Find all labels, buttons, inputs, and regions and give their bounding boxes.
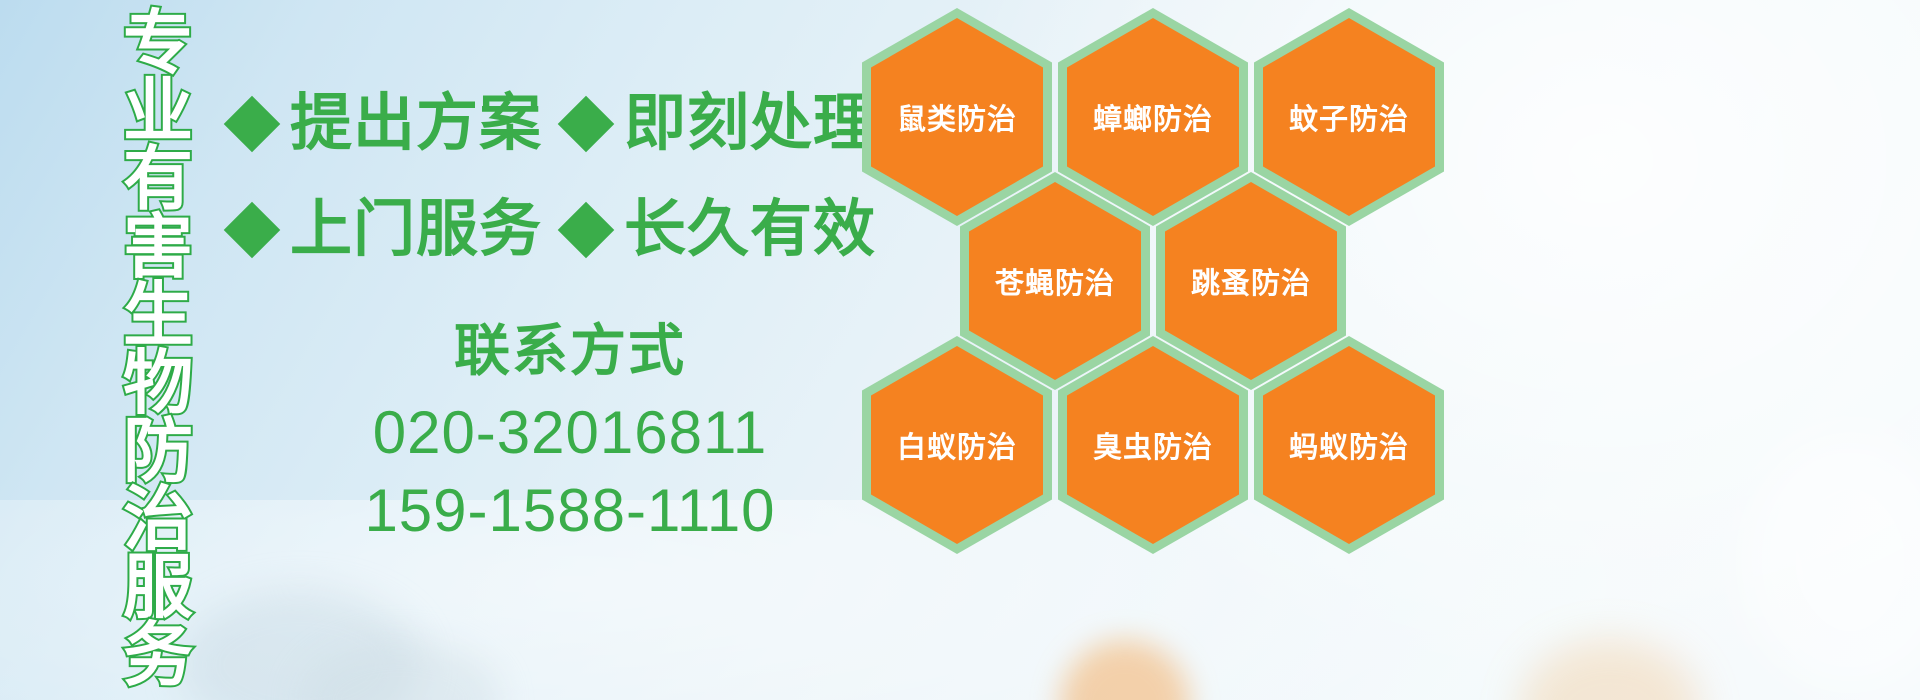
background-blur-blob	[1740, 430, 1920, 690]
feature-row-one: 提出方案 即刻处理	[232, 88, 876, 160]
hexagon-inner: 蚊子防治	[1263, 18, 1435, 216]
service-label: 臭虫防治	[1093, 424, 1213, 466]
feature-label: 提出方案	[290, 88, 542, 160]
service-label: 蟑螂防治	[1093, 96, 1213, 138]
phone-number-landline[interactable]: 020-32016811	[300, 394, 840, 472]
feature-label: 即刻处理	[624, 88, 876, 160]
phone-number-mobile[interactable]: 159-1588-1110	[300, 472, 840, 550]
feature-label: 长久有效	[624, 194, 876, 266]
headline-char: 生	[123, 280, 193, 348]
feature-item: 即刻处理	[566, 88, 876, 160]
headline-char: 专	[123, 8, 193, 76]
service-label: 跳蚤防治	[1191, 260, 1311, 302]
feature-row-two: 上门服务 长久有效	[232, 194, 876, 266]
contact-block: 联系方式 020-32016811 159-1588-1110	[300, 318, 840, 550]
diamond-bullet-icon	[558, 96, 615, 153]
pest-control-banner: 专 业 有 害 生 物 防 治 服 务 提出方案 即刻处理 上门服务 长久有效	[0, 0, 1920, 700]
hexagon-inner: 鼠类防治	[871, 18, 1043, 216]
feature-item: 提出方案	[232, 88, 566, 160]
headline-char: 防	[123, 416, 193, 484]
feature-item: 上门服务	[232, 194, 566, 266]
diamond-bullet-icon	[224, 96, 281, 153]
headline-char: 有	[123, 144, 193, 212]
hexagon-inner: 蚂蚁防治	[1263, 346, 1435, 544]
headline-char: 服	[123, 552, 193, 620]
headline-char: 害	[123, 212, 193, 280]
diamond-bullet-icon	[224, 202, 281, 259]
hexagon-inner: 臭虫防治	[1067, 346, 1239, 544]
background-blur-blob-orange	[1520, 640, 1700, 700]
vertical-headline: 专 业 有 害 生 物 防 治 服 务	[106, 8, 210, 692]
headline-char: 物	[123, 348, 193, 416]
headline-char: 业	[123, 76, 193, 144]
service-hexagon-grid: 鼠类防治 蟑螂防治 蚊子防治 苍蝇防治 跳蚤防治 白蚁防治	[862, 0, 1462, 545]
headline-char: 务	[123, 620, 193, 688]
feature-label: 上门服务	[290, 194, 542, 266]
service-label: 鼠类防治	[897, 96, 1017, 138]
hexagon-inner: 苍蝇防治	[969, 182, 1141, 380]
service-label: 苍蝇防治	[995, 260, 1115, 302]
feature-item: 长久有效	[566, 194, 876, 266]
hexagon-inner: 白蚁防治	[871, 346, 1043, 544]
hexagon-inner: 跳蚤防治	[1165, 182, 1337, 380]
service-label: 蚊子防治	[1289, 96, 1409, 138]
headline-char: 治	[123, 484, 193, 552]
background-blur-blob-orange	[1060, 640, 1190, 700]
hexagon-inner: 蟑螂防治	[1067, 18, 1239, 216]
service-label: 白蚁防治	[897, 424, 1017, 466]
contact-title: 联系方式	[300, 318, 840, 384]
service-label: 蚂蚁防治	[1289, 424, 1409, 466]
diamond-bullet-icon	[558, 202, 615, 259]
